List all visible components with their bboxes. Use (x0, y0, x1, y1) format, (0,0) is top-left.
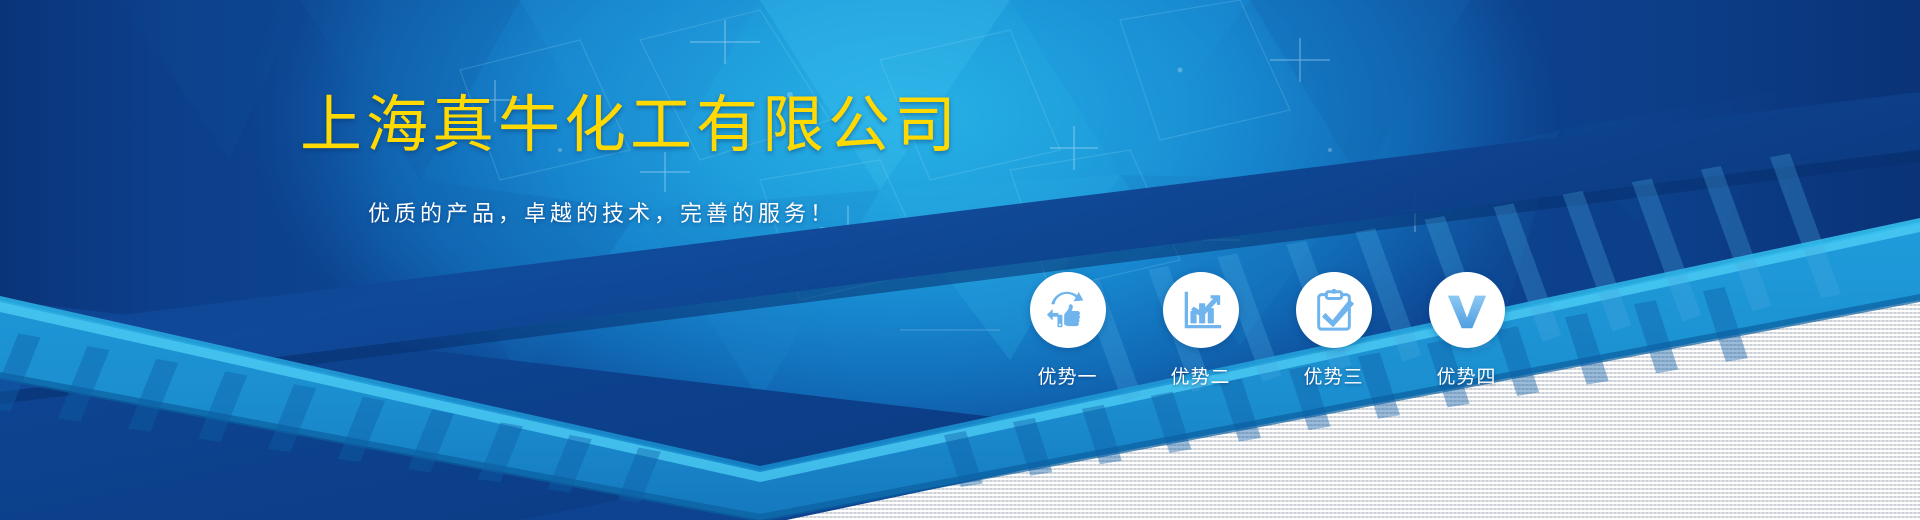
advantages-list: 优势一 优势二 (1025, 272, 1509, 389)
advantage-item-4[interactable]: 优势四 (1424, 272, 1509, 389)
bar-chart-growth-icon (1178, 287, 1224, 333)
advantage-icon-circle-1 (1030, 272, 1106, 348)
banner-content: 上海真牛化工有限公司 优质的产品，卓越的技术，完善的服务！ (0, 0, 1920, 520)
advantage-item-2[interactable]: 优势二 (1158, 272, 1243, 389)
advantage-icon-circle-3 (1296, 272, 1372, 348)
advantage-item-1[interactable]: 优势一 (1025, 272, 1110, 389)
advantage-label-1: 优势一 (1037, 362, 1097, 389)
v-check-icon (1444, 287, 1490, 333)
advantage-item-3[interactable]: 优势三 (1291, 272, 1376, 389)
company-slogan: 优质的产品，卓越的技术，完善的服务！ (368, 196, 836, 228)
advantage-icon-circle-2 (1163, 272, 1239, 348)
recycle-thumbsup-icon (1045, 287, 1091, 333)
advantage-icon-circle-4 (1429, 272, 1505, 348)
clipboard-check-icon (1311, 287, 1357, 333)
advantage-label-4: 优势四 (1436, 362, 1496, 389)
advantage-label-2: 优势二 (1170, 362, 1230, 389)
advantage-label-3: 优势三 (1303, 362, 1363, 389)
company-hero-banner: 上海真牛化工有限公司 优质的产品，卓越的技术，完善的服务！ (0, 0, 1920, 520)
company-title: 上海真牛化工有限公司 (300, 92, 960, 160)
